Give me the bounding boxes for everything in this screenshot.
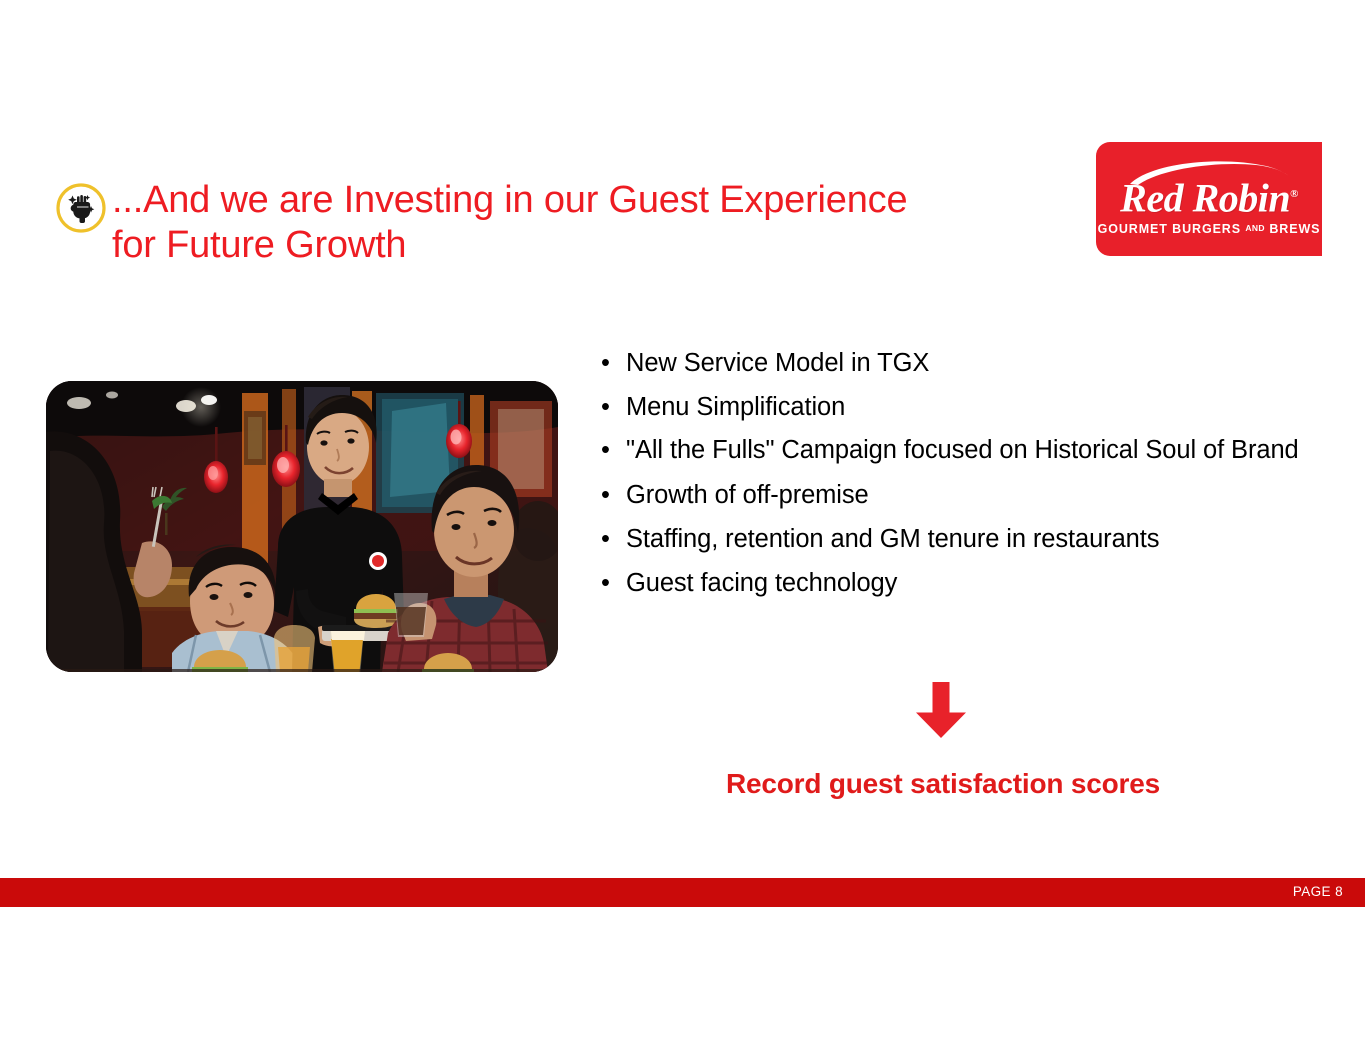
list-item: • New Service Model in TGX [598,341,1308,385]
page-title: ...And we are Investing in our Guest Exp… [112,178,1052,268]
bullet-marker: • [601,517,610,561]
logo-wordmark: Red Robin® [1096,172,1322,220]
footer-bar: PAGE 8 [0,878,1365,907]
bullet-marker: • [601,473,610,517]
conclusion-text: Record guest satisfaction scores [598,768,1288,800]
down-arrow-icon [911,680,971,740]
bullet-list: • New Service Model in TGX • Menu Simpli… [598,341,1308,605]
bullet-marker: • [601,341,610,385]
list-item: • "All the Fulls" Campaign focused on Hi… [598,429,1308,473]
logo-tagline-post: BREWS [1265,222,1320,236]
list-item-text: New Service Model in TGX [626,349,929,377]
list-item: • Staffing, retention and GM tenure in r… [598,517,1308,561]
list-item-text: Menu Simplification [626,393,845,421]
bullet-marker: • [601,385,610,429]
logo-tagline-pre: GOURMET BURGERS [1098,222,1246,236]
list-item: • Menu Simplification [598,385,1308,429]
red-robin-logo: Red Robin® GOURMET BURGERS AND BREWS [1096,142,1322,256]
restaurant-photo [46,381,558,672]
raised-fist-icon [55,182,107,234]
logo-wordmark-text: Red Robin [1120,175,1290,220]
registered-mark: ® [1290,188,1298,200]
list-item-text: Growth of off-premise [626,481,869,509]
bullet-marker: • [601,561,610,605]
bullet-marker: • [601,433,610,468]
list-item-text: "All the Fulls" Campaign focused on Hist… [626,436,1299,464]
list-item-text: Guest facing technology [626,569,897,597]
page-number: PAGE 8 [1293,884,1343,899]
slide-canvas: ...And we are Investing in our Guest Exp… [0,0,1365,1055]
logo-tagline: GOURMET BURGERS AND BREWS [1096,222,1322,236]
list-item-text: Staffing, retention and GM tenure in res… [626,525,1159,553]
list-item: • Guest facing technology [598,561,1308,605]
logo-tagline-and: AND [1245,223,1265,233]
list-item: • Growth of off-premise [598,473,1308,517]
